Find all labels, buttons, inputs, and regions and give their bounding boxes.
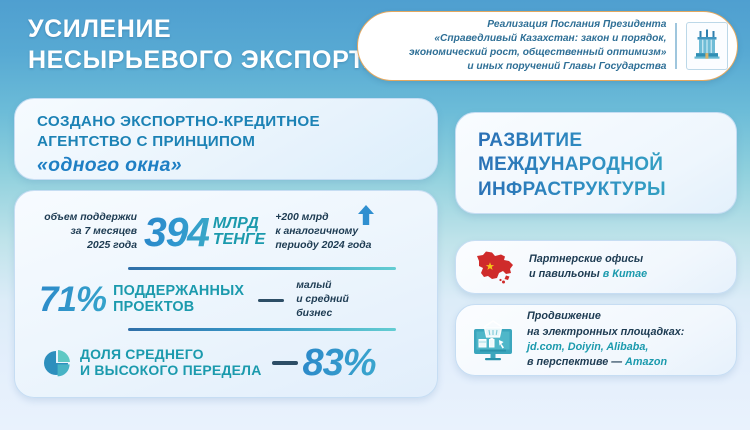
projects-label: ПОДДЕРЖАННЫХ ПРОЕКТОВ xyxy=(113,284,244,316)
share-dash xyxy=(272,361,298,365)
volume-label: объем поддержки за 7 месяцев 2025 года xyxy=(33,211,137,252)
akorda-building-emblem xyxy=(686,22,728,70)
volume-unit: МЛРД ТЕНГЕ xyxy=(213,216,266,249)
china-text-accent: в Китае xyxy=(603,268,647,280)
stat-row-projects: 71% ПОДДЕРЖАННЫХ ПРОЕКТОВ малый и средни… xyxy=(15,275,437,325)
ecommerce-platforms: jd.com, Doiyin, Alibaba, xyxy=(527,340,684,355)
china-offices-text: Партнерские офисы и павильоны в Китае xyxy=(529,252,647,283)
pie-chart-icon xyxy=(43,349,71,377)
ecommerce-amazon: Amazon xyxy=(625,356,667,368)
support-statistics-card: объем поддержки за 7 месяцев 2025 года 3… xyxy=(14,190,438,398)
infographic-root: УСИЛЕНИЕ НЕСЫРЬЕВОГО ЭКСПОРТА Реализация… xyxy=(0,0,750,430)
agency-line-1: СОЗДАНО ЭКСПОРТНО-КРЕДИТНОЕ xyxy=(37,112,415,132)
divider-line-2 xyxy=(128,328,396,331)
president-address-text: Реализация Послания Президента «Справедл… xyxy=(409,18,675,74)
export-credit-agency-card: СОЗДАНО ЭКСПОРТНО-КРЕДИТНОЕ АГЕНТСТВО С … xyxy=(14,98,438,180)
international-infrastructure-card: РАЗВИТИЕ МЕЖДУНАРОДНОЙ ИНФРАСТРУКТУРЫ xyxy=(455,112,737,214)
share-label: ДОЛЯ СРЕДНЕГО И ВЫСОКОГО ПЕРЕДЕЛА xyxy=(80,347,262,378)
projects-note: малый и средний бизнес xyxy=(296,279,349,320)
volume-delta-wrap: +200 млрд к аналогичному периоду 2024 го… xyxy=(275,211,371,252)
ecommerce-monitor-icon xyxy=(470,318,516,362)
arrow-up-icon xyxy=(357,204,375,231)
ecommerce-line-4: в перспективе — Amazon xyxy=(527,355,684,370)
ecommerce-line-2: на электронных площадках: xyxy=(527,325,684,340)
share-percent: 83% xyxy=(303,342,376,385)
ecommerce-line-1: Продвижение xyxy=(527,309,684,324)
agency-principle-quote: «одного окна» xyxy=(37,154,415,177)
international-heading: РАЗВИТИЕ МЕЖДУНАРОДНОЙ ИНФРАСТРУКТУРЫ xyxy=(478,129,736,202)
china-offices-card: Партнерские офисы и павильоны в Китае xyxy=(455,240,737,294)
page-title: УСИЛЕНИЕ НЕСЫРЬЕВОГО ЭКСПОРТА xyxy=(28,14,382,75)
ecommerce-line-4-plain: в перспективе — xyxy=(527,356,625,368)
volume-number: 394 xyxy=(144,209,209,256)
china-map-icon xyxy=(470,249,518,285)
president-address-badge: Реализация Послания Президента «Справедл… xyxy=(357,11,738,81)
projects-percent: 71% xyxy=(39,280,106,320)
stat-row-volume: объем поддержки за 7 месяцев 2025 года 3… xyxy=(15,201,437,263)
ecommerce-text: Продвижение на электронных площадках: jd… xyxy=(527,309,684,370)
agency-line-2: АГЕНТСТВО С ПРИНЦИПОМ xyxy=(37,132,415,152)
ecommerce-promotion-card: Продвижение на электронных площадках: jd… xyxy=(455,304,737,376)
badge-divider xyxy=(675,23,677,69)
projects-dash xyxy=(258,299,284,302)
stat-row-share: ДОЛЯ СРЕДНЕГО И ВЫСОКОГО ПЕРЕДЕЛА 83% xyxy=(15,336,437,390)
divider-line-1 xyxy=(128,267,396,270)
